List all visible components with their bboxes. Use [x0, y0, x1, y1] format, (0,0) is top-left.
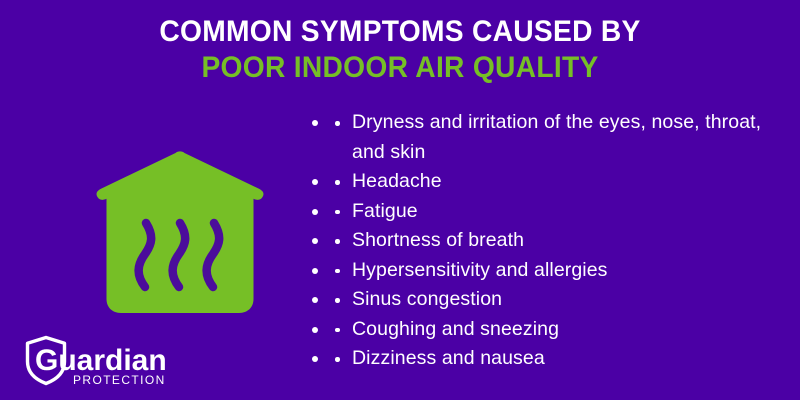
list-item: Dryness and irritation of the eyes, nose… — [330, 108, 792, 167]
list-item-label: Fatigue — [352, 200, 418, 222]
list-item-label: Coughing and sneezing — [352, 318, 559, 340]
list-item-label: Hypersensitivity and allergies — [352, 259, 608, 281]
page-title: COMMON SYMPTOMS CAUSED BY POOR INDOOR AI… — [0, 14, 800, 86]
list-item: Headache — [330, 167, 792, 197]
list-item-label: Shortness of breath — [352, 229, 524, 251]
house-with-air-waves-icon — [92, 148, 268, 320]
list-item: Hypersensitivity and allergies — [330, 256, 792, 286]
list-item: Fatigue — [330, 197, 792, 227]
list-item: Coughing and sneezing — [330, 315, 792, 345]
list-item: Sinus congestion — [330, 285, 792, 315]
list-item: Shortness of breath — [330, 226, 792, 256]
bullet-icon — [335, 269, 340, 274]
brand-logo: Guardian PROTECTION — [24, 334, 184, 390]
bullet-icon — [335, 239, 340, 244]
logo-subtitle: PROTECTION — [73, 373, 166, 387]
list-item: Dizziness and nausea — [330, 344, 792, 374]
bullet-icon — [335, 210, 340, 215]
list-item-label: Sinus congestion — [352, 288, 502, 310]
title-line-highlight: POOR INDOOR AIR QUALITY — [24, 50, 776, 86]
bullet-icon — [335, 180, 340, 185]
infographic-canvas: COMMON SYMPTOMS CAUSED BY POOR INDOOR AI… — [0, 0, 800, 400]
bullet-icon — [335, 357, 340, 362]
symptom-list: Dryness and irritation of the eyes, nose… — [330, 108, 792, 374]
title-line-primary: COMMON SYMPTOMS CAUSED BY — [24, 14, 776, 50]
list-item-label: Headache — [352, 170, 442, 192]
list-item-label: Dizziness and nausea — [352, 347, 545, 369]
list-item-label: Dryness and irritation of the eyes, nose… — [352, 111, 761, 163]
bullet-icon — [335, 328, 340, 333]
bullet-icon — [335, 121, 340, 126]
bullet-icon — [335, 298, 340, 303]
